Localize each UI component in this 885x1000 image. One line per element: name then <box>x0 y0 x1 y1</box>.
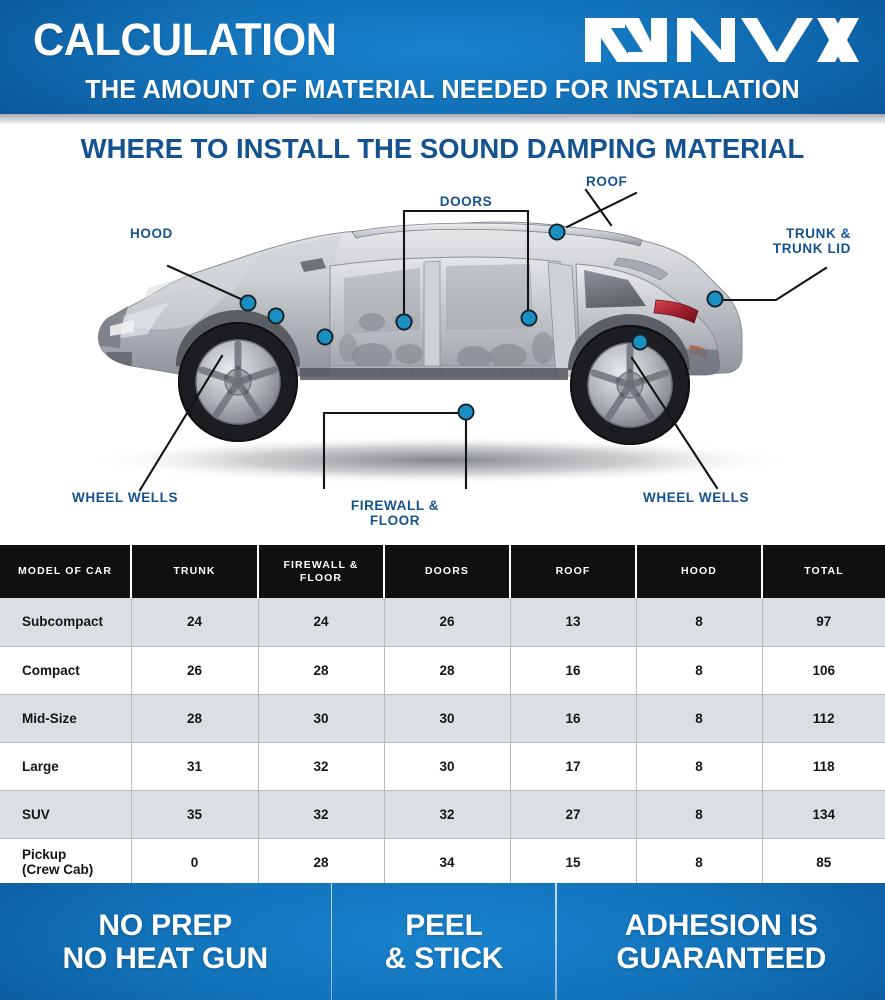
cell-model: Subcompact <box>0 598 131 646</box>
header-shadow <box>0 114 885 125</box>
section-title: WHERE TO INSTALL THE SOUND DAMPING MATER… <box>0 133 885 165</box>
cell-firewall: 32 <box>258 742 384 790</box>
marker-floor <box>458 404 475 421</box>
cell-trunk: 31 <box>131 742 258 790</box>
cell-trunk: 0 <box>131 838 258 886</box>
callout-wheel-wells-front-label: WHEEL WELLS <box>72 490 178 505</box>
table-row: Large 31 32 30 17 8 118 <box>0 742 885 790</box>
cell-doors: 26 <box>384 598 510 646</box>
header-subtitle: THE AMOUNT OF MATERIAL NEEDED FOR INSTAL… <box>4 76 880 105</box>
nvx-logo-mark-icon <box>581 16 859 64</box>
cell-roof: 15 <box>510 838 636 886</box>
cell-model: SUV <box>0 790 131 838</box>
callout-trunk-label: TRUNK & TRUNK LID <box>706 226 851 256</box>
feature-no-prep: NO PREP NO HEAT GUN <box>0 883 331 1000</box>
cell-roof: 13 <box>510 598 636 646</box>
cell-firewall: 28 <box>258 646 384 694</box>
marker-front-door <box>396 314 413 331</box>
side-skirt <box>300 368 568 380</box>
cell-doors: 32 <box>384 790 510 838</box>
header-banner: CALCULATION THE AMOUNT OF MATERIAL NEE <box>0 0 885 114</box>
cell-trunk: 26 <box>131 646 258 694</box>
cell-model: Pickup (Crew Cab) <box>0 838 131 886</box>
marker-trunk <box>707 291 724 308</box>
marker-rear-door <box>521 310 538 327</box>
cell-trunk: 24 <box>131 598 258 646</box>
cell-roof: 27 <box>510 790 636 838</box>
cell-total: 134 <box>762 790 885 838</box>
cell-trunk: 35 <box>131 790 258 838</box>
cell-firewall: 24 <box>258 598 384 646</box>
cell-model: Large <box>0 742 131 790</box>
cell-hood: 8 <box>636 598 762 646</box>
callout-roof-label: ROOF <box>586 174 627 189</box>
cell-roof: 16 <box>510 646 636 694</box>
header-top-row: CALCULATION <box>0 12 885 68</box>
table-row: Pickup (Crew Cab) 0 28 34 15 8 85 <box>0 838 885 886</box>
cell-hood: 8 <box>636 694 762 742</box>
table-row: SUV 35 32 32 27 8 134 <box>0 790 885 838</box>
cell-total: 97 <box>762 598 885 646</box>
page-title: CALCULATION <box>33 15 336 65</box>
column-header-total: TOTAL <box>762 545 885 598</box>
infographic-page: CALCULATION THE AMOUNT OF MATERIAL NEE <box>0 0 885 1000</box>
marker-hood <box>240 295 257 312</box>
features-banner: NO PREP NO HEAT GUN PEEL & STICK ADHESIO… <box>0 883 885 1000</box>
material-quantity-table: MODEL OF CAR TRUNK FIREWALL & FLOOR DOOR… <box>0 545 885 886</box>
cell-total: 85 <box>762 838 885 886</box>
feature-adhesion: ADHESION IS GUARANTEED <box>557 883 885 1000</box>
callout-doors-label: DOORS <box>404 194 528 209</box>
cell-roof: 17 <box>510 742 636 790</box>
callout-wheel-wells-rear-label: WHEEL WELLS <box>643 490 749 505</box>
column-header-model: MODEL OF CAR <box>0 545 131 598</box>
cell-total: 118 <box>762 742 885 790</box>
marker-front-fender <box>268 308 285 325</box>
column-header-doors: DOORS <box>384 545 510 598</box>
rear-wheel <box>570 325 690 445</box>
table-row: Mid-Size 28 30 30 16 8 112 <box>0 694 885 742</box>
column-header-hood: HOOD <box>636 545 762 598</box>
callout-firewall-floor-label: FIREWALL & FLOOR <box>324 498 466 528</box>
cell-hood: 8 <box>636 646 762 694</box>
cell-doors: 34 <box>384 838 510 886</box>
cell-firewall: 32 <box>258 790 384 838</box>
cell-total: 112 <box>762 694 885 742</box>
cell-firewall: 28 <box>258 838 384 886</box>
frame-cutaway <box>330 257 578 377</box>
vehicle-diagram: HOOD DOORS ROOF TRUNK & TRUNK LID WHEEL … <box>0 170 885 540</box>
cell-hood: 8 <box>636 838 762 886</box>
marker-front-sill <box>317 329 334 346</box>
cell-model: Mid-Size <box>0 694 131 742</box>
column-header-trunk: TRUNK <box>131 545 258 598</box>
callout-hood-label: HOOD <box>130 226 173 241</box>
nvx-logo <box>581 17 859 63</box>
cell-hood: 8 <box>636 742 762 790</box>
leader-trunk <box>716 268 826 300</box>
b-pillar <box>424 261 440 376</box>
marker-roof <box>549 224 566 241</box>
table-header-row: MODEL OF CAR TRUNK FIREWALL & FLOOR DOOR… <box>0 545 885 598</box>
table-row: Compact 26 28 28 16 8 106 <box>0 646 885 694</box>
cell-doors: 30 <box>384 742 510 790</box>
cell-hood: 8 <box>636 790 762 838</box>
table-row: Subcompact 24 24 26 13 8 97 <box>0 598 885 646</box>
cell-trunk: 28 <box>131 694 258 742</box>
front-wheel <box>178 322 298 442</box>
cell-firewall: 30 <box>258 694 384 742</box>
feature-peel-stick: PEEL & STICK <box>332 883 555 1000</box>
marker-rear-fender <box>632 334 649 351</box>
cell-total: 106 <box>762 646 885 694</box>
column-header-roof: ROOF <box>510 545 636 598</box>
cell-doors: 28 <box>384 646 510 694</box>
cell-roof: 16 <box>510 694 636 742</box>
cell-model: Compact <box>0 646 131 694</box>
cell-doors: 30 <box>384 694 510 742</box>
column-header-firewall: FIREWALL & FLOOR <box>258 545 384 598</box>
material-table-wrapper: MODEL OF CAR TRUNK FIREWALL & FLOOR DOOR… <box>0 545 885 886</box>
